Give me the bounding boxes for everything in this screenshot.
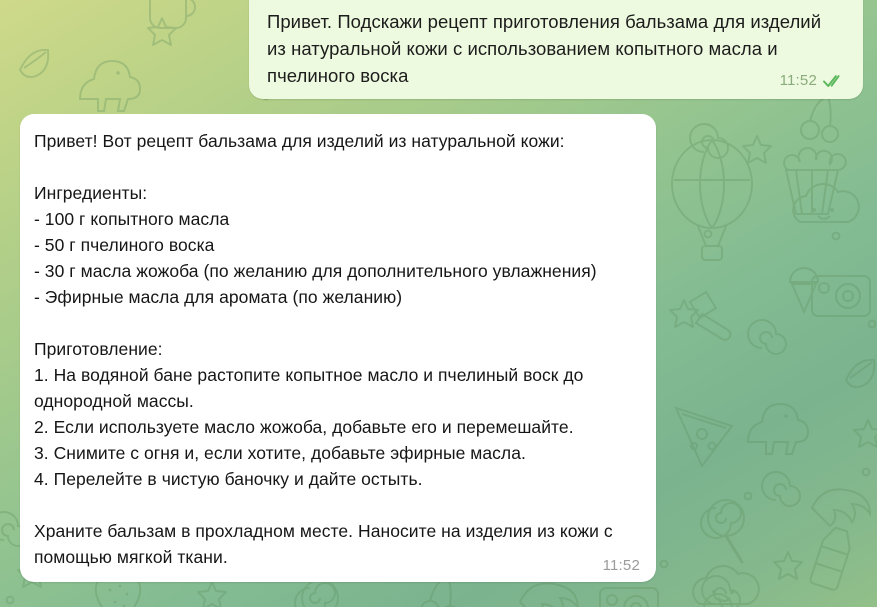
incoming-message-meta: 11:52 bbox=[603, 557, 640, 574]
chat-conversation-view: Привет. Подскажи рецепт приготовления ба… bbox=[0, 0, 877, 607]
incoming-message-text: Привет! Вот рецепт бальзама для изделий … bbox=[34, 128, 640, 570]
incoming-message-bubble[interactable]: Привет! Вот рецепт бальзама для изделий … bbox=[20, 114, 656, 582]
outgoing-message-meta: 11:52 bbox=[780, 72, 845, 89]
outgoing-message-text: Привет. Подскажи рецепт приготовления ба… bbox=[267, 8, 845, 89]
outgoing-message-timestamp: 11:52 bbox=[780, 72, 817, 89]
double-check-icon bbox=[823, 74, 845, 88]
outgoing-message-bubble[interactable]: Привет. Подскажи рецепт приготовления ба… bbox=[249, 0, 863, 99]
incoming-message-timestamp: 11:52 bbox=[603, 557, 640, 574]
